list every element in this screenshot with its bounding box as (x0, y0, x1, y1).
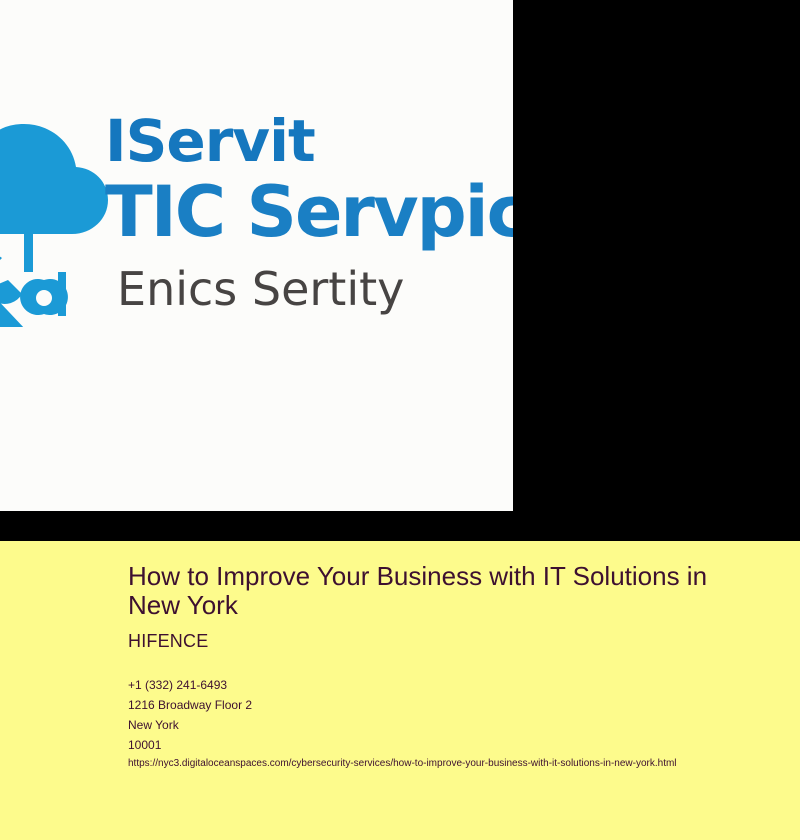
logo-wordmark-line-2: TIC Servpice (105, 176, 513, 250)
source-url-link[interactable]: https://nyc3.digitaloceanspaces.com/cybe… (128, 758, 677, 769)
brand-name: HIFENCE (128, 631, 208, 652)
contact-phone: +1 (332) 241-6493 (128, 675, 252, 695)
logo-wordmark-line-3: Enics Sertity (117, 266, 513, 312)
logo-wordmark-line-1: IServit (105, 112, 513, 170)
contact-city: New York (128, 715, 252, 735)
logo-card: IServit TIC Servpice Enics Sertity (0, 0, 513, 511)
info-panel: How to Improve Your Business with IT Sol… (0, 541, 800, 840)
logo-wordmark: IServit TIC Servpice Enics Sertity (105, 112, 513, 312)
contact-block: +1 (332) 241-6493 1216 Broadway Floor 2 … (128, 675, 252, 755)
contact-postal-code: 10001 (128, 735, 252, 755)
logo-artwork: IServit TIC Servpice Enics Sertity (0, 112, 513, 412)
contact-street: 1216 Broadway Floor 2 (128, 695, 252, 715)
page-title: How to Improve Your Business with IT Sol… (128, 562, 708, 620)
page-root: IServit TIC Servpice Enics Sertity How t… (0, 0, 800, 840)
